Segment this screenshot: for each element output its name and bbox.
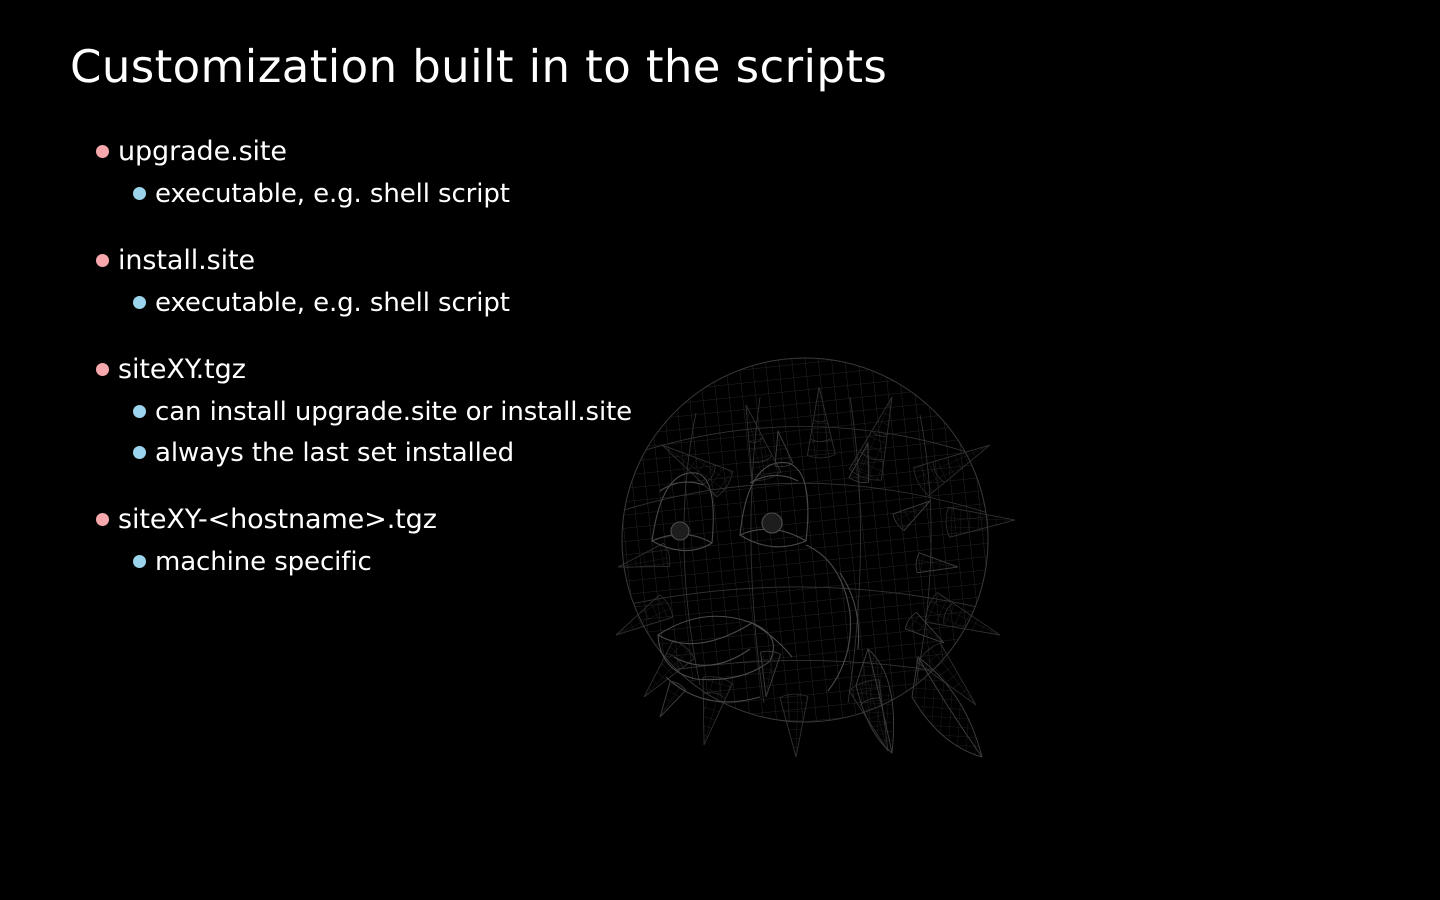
bullet-marker-blue-icon (133, 187, 146, 200)
bullet-marker-pink-icon (96, 145, 109, 158)
list-item-level2: executable, e.g. shell script (133, 284, 996, 325)
list-item-label: machine specific (155, 543, 372, 581)
list-item-label: executable, e.g. shell script (155, 175, 510, 213)
list-item-label: executable, e.g. shell script (155, 284, 510, 322)
list-item-level2: always the last set installed (133, 434, 996, 475)
bullet-marker-blue-icon (133, 555, 146, 568)
bullet-group: siteXY-<hostname>.tgz machine specific (96, 501, 996, 584)
list-item-level2: can install upgrade.site or install.site (133, 393, 996, 434)
list-item-level1: siteXY.tgz (96, 351, 996, 393)
list-item-level1: upgrade.site (96, 133, 996, 175)
bullet-marker-blue-icon (133, 296, 146, 309)
bullet-marker-pink-icon (96, 513, 109, 526)
list-item-level2: machine specific (133, 543, 996, 584)
slide: Customization built in to the scripts up… (0, 0, 1440, 900)
list-item-label: upgrade.site (118, 133, 287, 171)
list-item-level1: install.site (96, 242, 996, 284)
list-item-label: can install upgrade.site or install.site (155, 393, 632, 431)
list-item-label: install.site (118, 242, 255, 280)
list-item-label: siteXY.tgz (118, 351, 246, 389)
list-item-label: always the last set installed (155, 434, 514, 472)
bullet-group: upgrade.site executable, e.g. shell scri… (96, 133, 996, 216)
bullet-group: siteXY.tgz can install upgrade.site or i… (96, 351, 996, 475)
page-title: Customization built in to the scripts (70, 38, 887, 96)
list-item-level1: siteXY-<hostname>.tgz (96, 501, 996, 543)
bullet-group: install.site executable, e.g. shell scri… (96, 242, 996, 325)
bullet-list: upgrade.site executable, e.g. shell scri… (96, 133, 996, 584)
bullet-marker-blue-icon (133, 405, 146, 418)
bullet-marker-pink-icon (96, 363, 109, 376)
list-item-label: siteXY-<hostname>.tgz (118, 501, 437, 539)
list-item-level2: executable, e.g. shell script (133, 175, 996, 216)
bullet-marker-blue-icon (133, 446, 146, 459)
bullet-marker-pink-icon (96, 254, 109, 267)
